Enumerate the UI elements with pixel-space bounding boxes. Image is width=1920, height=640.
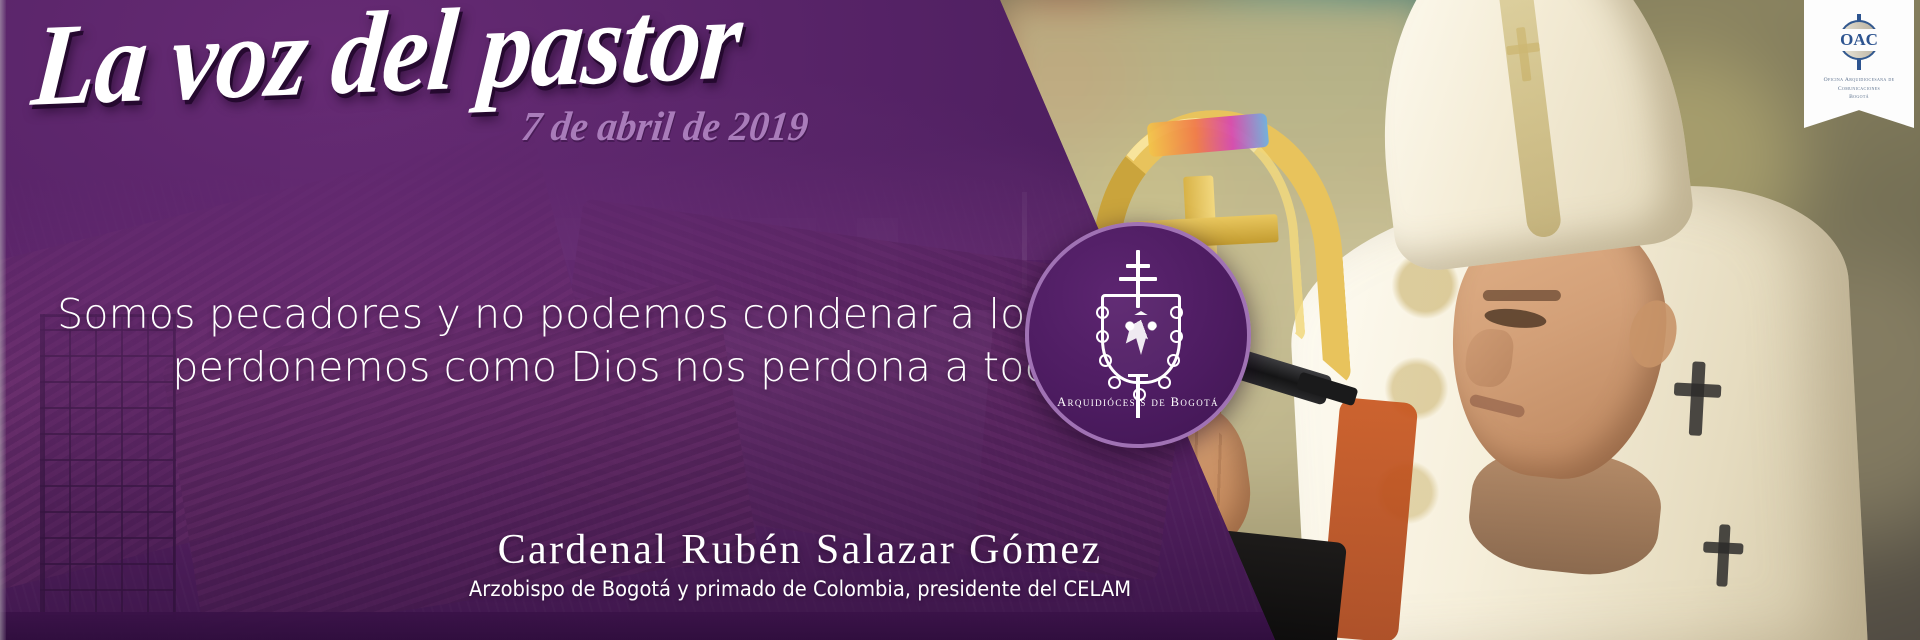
mouth xyxy=(1469,393,1526,418)
speaker-name: Cardenal Rubén Salazar Gómez xyxy=(430,526,1170,574)
oac-mark: OAC xyxy=(1828,14,1890,70)
vestment-cross-icon xyxy=(1669,360,1725,437)
oac-subtitle-line-3: Bogotá xyxy=(1810,93,1908,102)
archdiocese-seal: Arquidiócesis de Bogotá xyxy=(1025,222,1251,448)
oac-subtitle-line-1: Oficina Arquidiocesana de xyxy=(1810,76,1908,85)
eyebrow xyxy=(1483,290,1561,301)
coat-of-arms xyxy=(1086,250,1190,380)
seal-caption: Arquidiócesis de Bogotá xyxy=(1029,395,1247,410)
oac-subtitle-line-2: Comunicaciones xyxy=(1810,85,1908,94)
bottom-band xyxy=(0,612,1275,640)
nose xyxy=(1463,327,1515,389)
seal-ornament-dots xyxy=(1086,292,1190,384)
voz-del-pastor-banner: La voz del pastor 7 de abril de 2019 Som… xyxy=(0,0,1920,640)
vestment-cross-lower-icon xyxy=(1699,523,1746,587)
speaker-role: Arzobispo de Bogotá y primado de Colombi… xyxy=(456,577,1144,601)
eye xyxy=(1484,306,1548,330)
mitre-cross-icon xyxy=(1500,25,1546,83)
oac-subtitle: Oficina Arquidiocesana de Comunicaciones… xyxy=(1810,76,1908,102)
oac-logo-tag: OAC Oficina Arquidiocesana de Comunicaci… xyxy=(1804,0,1914,128)
attribution-block: Cardenal Rubén Salazar Gómez Arzobispo d… xyxy=(430,526,1170,601)
oac-acronym: OAC xyxy=(1828,29,1890,51)
issue-date: 7 de abril de 2019 xyxy=(519,103,811,151)
mitre-hat xyxy=(1359,0,1697,275)
